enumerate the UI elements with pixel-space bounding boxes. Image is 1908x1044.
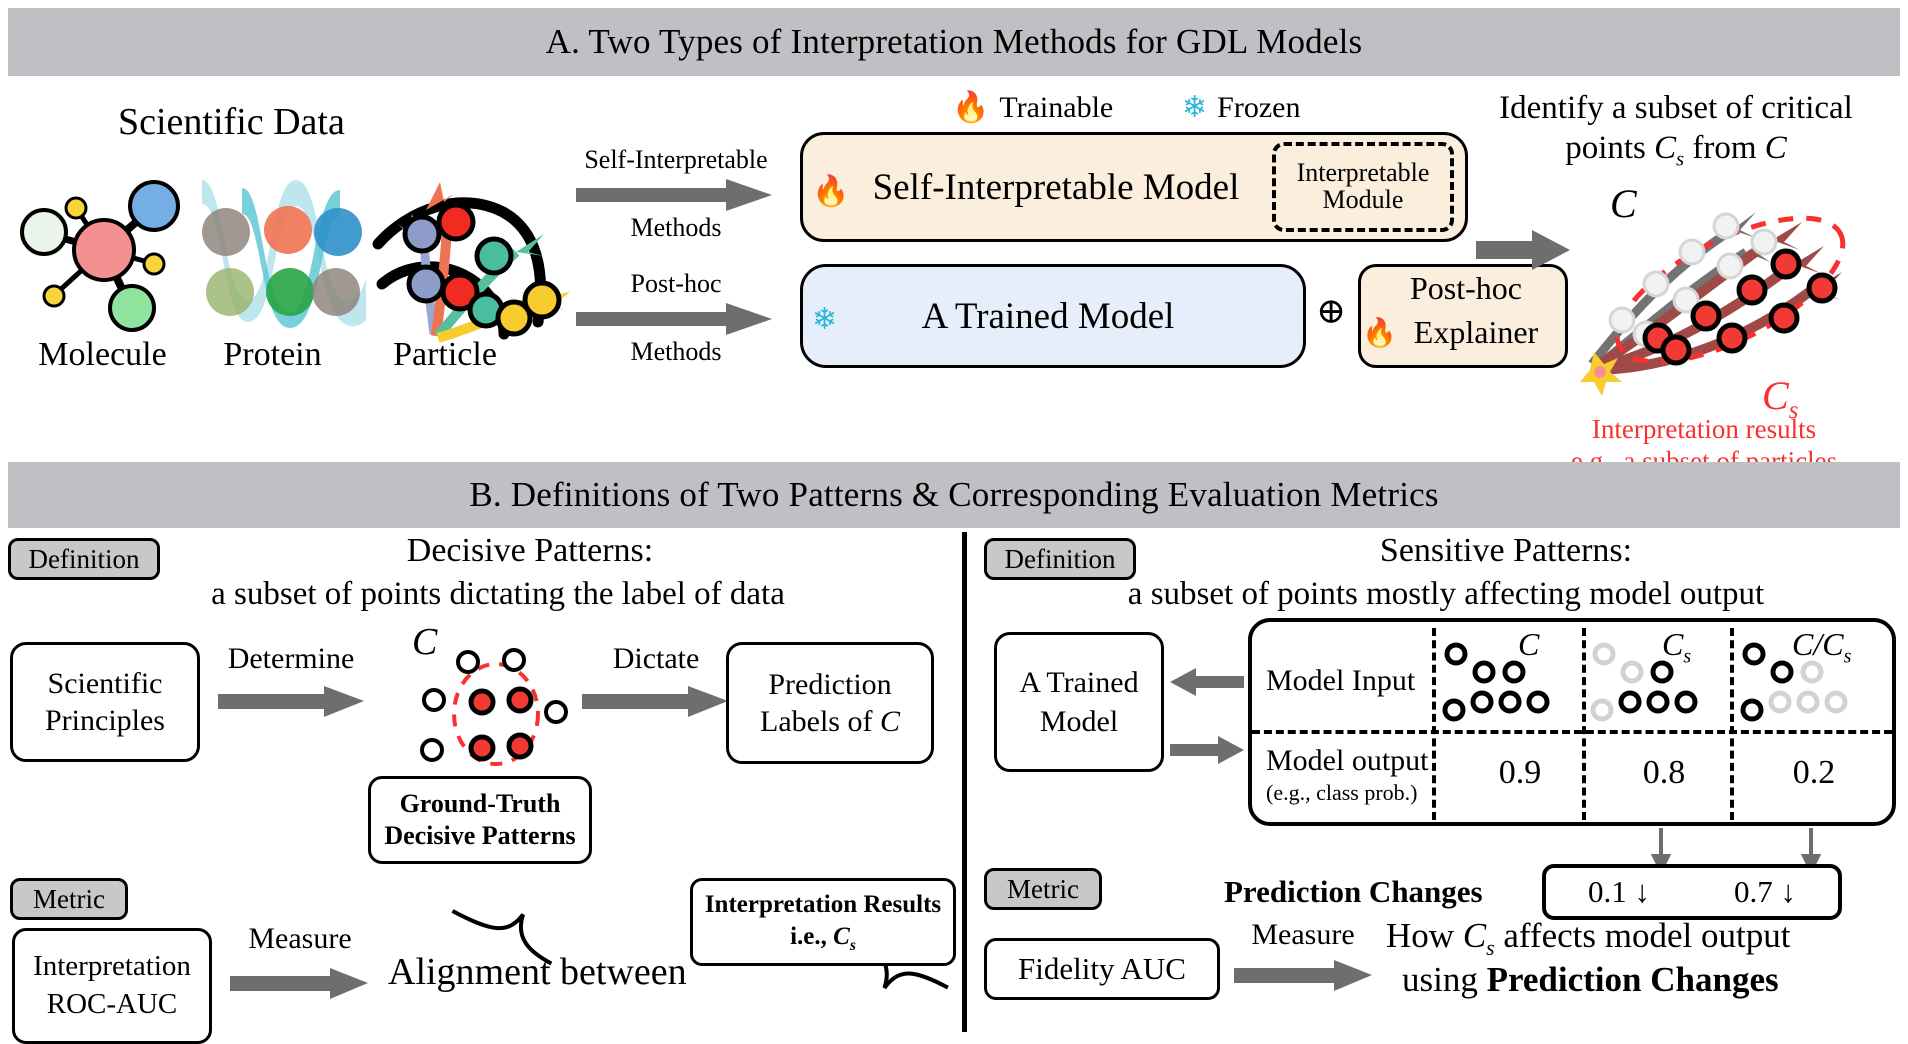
scientific-principles-line2: Principles: [45, 702, 165, 740]
ground-truth-line1: Ground-Truth: [400, 788, 561, 821]
table-row-header-output: Model output: [1266, 744, 1429, 778]
table-row-divider: [1252, 730, 1892, 734]
sensitive-patterns-heading: Sensitive Patterns:: [1156, 532, 1856, 570]
self-interpretable-model-label: Self-Interpretable Model: [846, 160, 1266, 214]
result-caption-sym-cs: C: [1654, 130, 1676, 166]
metric-badge-left: Metric: [10, 878, 128, 920]
table-col-divider-1: [1432, 628, 1436, 820]
result-caption-sym-c: C: [1765, 130, 1787, 166]
result-caption-pre: points: [1565, 130, 1654, 166]
result-note-line1: Interpretation results: [1500, 414, 1908, 445]
result-arrow-icon: [1476, 230, 1572, 270]
definition-badge-left: Definition: [8, 538, 160, 580]
posthoc-arrow-icon: [576, 303, 776, 337]
trained-model-box-right[interactable]: A Trained Model: [994, 632, 1164, 772]
legend-trainable-label: Trainable: [999, 91, 1113, 125]
measure-arrow-icon-right: [1234, 960, 1374, 992]
fidelity-result-line2-pre: using: [1402, 960, 1487, 999]
fidelity-result-line1-pre: How: [1386, 916, 1463, 955]
legend-frozen-label: Frozen: [1217, 91, 1300, 125]
scientific-principles-box[interactable]: Scientific Principles: [10, 642, 200, 762]
model-output-arrow-icon: [1170, 736, 1244, 764]
posthoc-arrow-label-top: Post-hoc: [566, 270, 786, 298]
interp-results-line2-sym: C: [833, 923, 850, 950]
self-interpretable-arrow-label-bottom: Methods: [566, 214, 786, 242]
sensitive-patterns-subheading: a subset of points mostly affecting mode…: [1006, 576, 1886, 613]
posthoc-explainer-line2: Explainer: [1386, 314, 1566, 351]
model-input-arrow-icon: [1170, 668, 1244, 696]
fidelity-result-line1-sub: s: [1486, 936, 1494, 960]
measure-arrow-label-left: Measure: [220, 922, 380, 956]
fire-icon: 🔥: [952, 90, 989, 125]
measure-arrow-icon-left: [230, 968, 370, 1000]
ground-truth-decisive-patterns-box: Ground-Truth Decisive Patterns: [368, 776, 592, 864]
fidelity-auc-box[interactable]: Fidelity AUC: [984, 938, 1220, 1000]
particle-icon: [368, 152, 598, 347]
interpretation-rocauc-box[interactable]: Interpretation ROC-AUC: [12, 928, 212, 1044]
ground-truth-cluster-diagram: [406, 650, 586, 774]
prediction-labels-line1: Prediction: [768, 666, 891, 704]
determine-arrow-icon: [218, 686, 366, 718]
fidelity-result-line1: How Cs affects model output: [1386, 916, 1790, 961]
data-label-molecule: Molecule: [10, 336, 195, 374]
prediction-labels-line2-sym: C: [880, 705, 900, 738]
label-Cs-sym: C: [1762, 373, 1789, 418]
determine-arrow-label: Determine: [206, 642, 376, 676]
posthoc-explainer-line1: Post-hoc: [1368, 270, 1564, 307]
prediction-changes-label: Prediction Changes: [1224, 874, 1483, 910]
panel-b-banner: B. Definitions of Two Patterns & Corresp…: [8, 462, 1900, 528]
panel-a-banner: A. Two Types of Interpretation Methods f…: [8, 8, 1900, 76]
rocauc-line1: Interpretation: [33, 948, 191, 986]
interpretable-module-box[interactable]: Interpretable Module: [1272, 142, 1454, 232]
interpretable-module-line2: Module: [1323, 187, 1404, 214]
fidelity-auc-label: Fidelity AUC: [1018, 951, 1186, 987]
table-points-col-c-cs: [1742, 640, 1874, 724]
trained-model-snowflake-icon: ❄: [812, 302, 837, 337]
table-col-divider-3: [1730, 628, 1734, 820]
fidelity-result-line2-bold: Prediction Changes: [1487, 960, 1779, 999]
interpretation-results-box: Interpretation Results i.e., Cs: [690, 878, 956, 966]
interp-results-line1: Interpretation Results: [705, 889, 941, 921]
dictate-arrow-label: Dictate: [576, 642, 736, 676]
result-caption-line1: Identify a subset of critical: [1448, 90, 1904, 127]
plus-symbol: ⊕: [1316, 290, 1346, 332]
self-interpretable-arrow-icon: [576, 179, 776, 213]
panel-b-left: Definition Decisive Patterns: a subset o…: [0, 520, 962, 1034]
prediction-labels-line2: Labels of C: [760, 703, 900, 741]
prediction-changes-box: 0.1 ↓ 0.7 ↓: [1542, 864, 1842, 920]
prediction-labels-box[interactable]: Prediction Labels of C: [726, 642, 934, 764]
result-caption-line2: points Cs from C: [1448, 130, 1904, 172]
label-C-set: C: [1610, 180, 1637, 227]
metric-badge-right: Metric: [984, 868, 1102, 910]
data-label-particle: Particle: [350, 336, 540, 374]
legend-frozen: ❄ Frozen: [1182, 90, 1300, 125]
table-output-value-1: 0.9: [1468, 754, 1572, 792]
interp-results-line2-sub: s: [850, 937, 856, 954]
trained-model-right-line1: A Trained: [1019, 663, 1138, 702]
result-caption-post: from: [1684, 130, 1765, 166]
fidelity-result-line1-post: affects model output: [1495, 916, 1791, 955]
sensitive-patterns-table: Model Input Model output (e.g., class pr…: [1248, 618, 1896, 826]
self-interp-fire-icon: 🔥: [812, 174, 849, 209]
prediction-change-value-1: 0.1 ↓: [1588, 874, 1650, 910]
trained-model-right-line2: Model: [1040, 702, 1118, 741]
interp-results-line2: i.e., Cs: [790, 921, 856, 956]
decisive-patterns-subheading: a subset of points dictating the label o…: [58, 576, 938, 613]
molecule-icon: [8, 162, 208, 332]
fidelity-result-line2: using Prediction Changes: [1402, 960, 1779, 1000]
measure-arrow-label-right: Measure: [1228, 918, 1378, 952]
prediction-change-value-2: 0.7 ↓: [1734, 874, 1796, 910]
legend-trainable: 🔥 Trainable: [952, 90, 1113, 125]
panel-b-title: B. Definitions of Two Patterns & Corresp…: [469, 475, 1438, 515]
table-col-divider-2: [1582, 628, 1586, 820]
posthoc-arrow-label-bottom: Methods: [566, 338, 786, 366]
table-points-col-cs: [1592, 640, 1724, 724]
trained-model-label: A Trained Model: [848, 290, 1248, 342]
decisive-patterns-heading: Decisive Patterns:: [180, 532, 880, 570]
table-row-header-input: Model Input: [1266, 664, 1415, 698]
panel-a-title: A. Two Types of Interpretation Methods f…: [546, 22, 1363, 62]
panel-b-right: Definition Sensitive Patterns: a subset …: [966, 520, 1908, 1034]
table-output-value-3: 0.2: [1762, 754, 1866, 792]
definition-badge-right: Definition: [984, 538, 1136, 580]
interpretable-module-line1: Interpretable: [1297, 160, 1430, 187]
table-points-col-c: [1444, 640, 1576, 724]
fidelity-result-line1-sym: C: [1463, 916, 1486, 955]
table-row-header-output-sub: (e.g., class prob.): [1266, 780, 1418, 806]
rocauc-line2: ROC-AUC: [47, 986, 178, 1024]
table-output-value-2: 0.8: [1612, 754, 1716, 792]
scientific-data-title: Scientific Data: [118, 100, 345, 144]
ground-truth-line2: Decisive Patterns: [384, 820, 575, 853]
self-interpretable-arrow-label-top: Self-Interpretable: [566, 146, 786, 174]
snowflake-icon: ❄: [1182, 90, 1207, 125]
dictate-arrow-icon: [582, 686, 730, 718]
data-label-protein: Protein: [180, 336, 365, 374]
panel-a-body: Scientific Data Molecule: [0, 84, 1908, 456]
prediction-labels-line2-text: Labels of: [760, 705, 880, 738]
protein-icon: [190, 170, 370, 335]
scientific-principles-line1: Scientific: [48, 665, 163, 703]
interp-results-line2-pre: i.e.,: [790, 923, 833, 950]
